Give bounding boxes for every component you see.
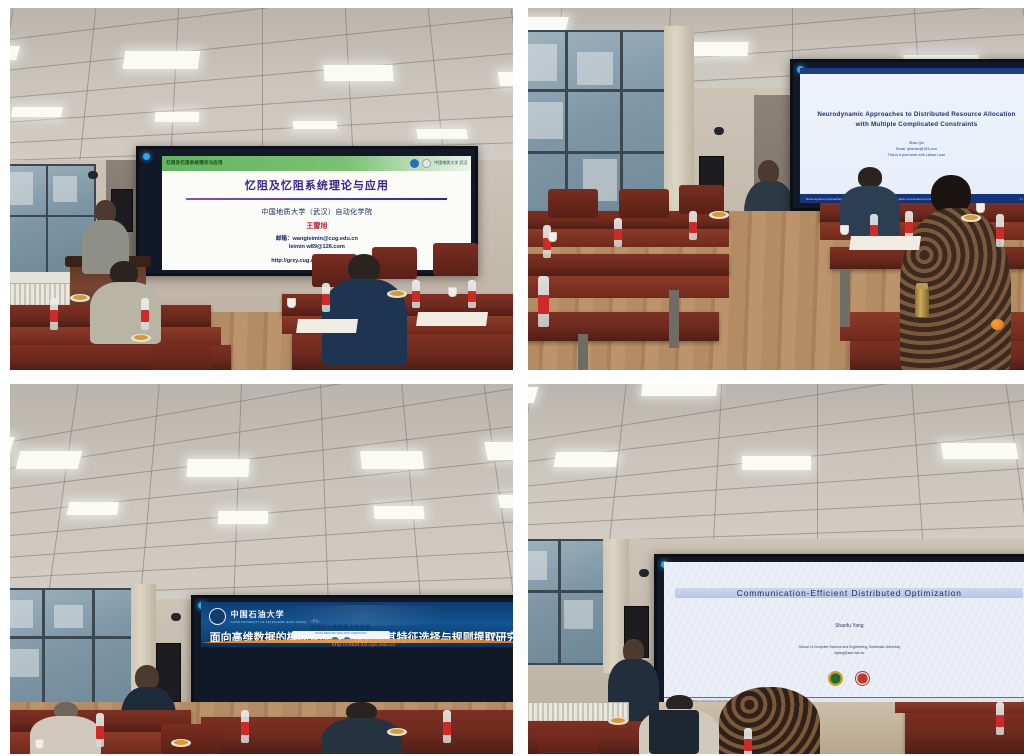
- desk: [528, 254, 729, 276]
- camera-icon: [88, 171, 98, 179]
- slide-email-2: leimin w89@126.com: [172, 243, 461, 251]
- coat-on-chair: [649, 710, 699, 754]
- chair: [538, 732, 598, 754]
- paper-cup: [840, 225, 849, 235]
- email-label: 邮箱：: [276, 236, 293, 242]
- paper-cup: [976, 203, 985, 213]
- slide-email-1: 邮箱：wangleimin@cug.edu.cn: [172, 235, 461, 243]
- desk-leg: [578, 334, 588, 370]
- desk-leg: [669, 290, 679, 348]
- paper-cup: [287, 298, 296, 308]
- projection-screen: 忆阻及忆阻系统理论与应用 中国地质大学 武汉 忆阻及忆阻系统理论与应用 中国地质…: [136, 146, 478, 276]
- room-scene: 中国石油大学 CHINA UNIVERSITY OF PETROLEUM (EA…: [10, 384, 513, 754]
- projection-screen: Communication-Efficient Distributed Opti…: [654, 554, 1024, 709]
- slide-email: sfyang@seu.edu.cn: [664, 650, 1024, 656]
- logo-blue-icon: [410, 159, 419, 168]
- water-bottle: [50, 298, 58, 331]
- chair: [433, 243, 478, 276]
- lab-subtitle: CROSS-MEDIA BIG DATA JOINT LABORATORY: [315, 632, 367, 635]
- ceiling-light: [218, 511, 268, 524]
- gold-thermos: [915, 287, 929, 317]
- emblem-green-icon: [828, 671, 843, 686]
- ceiling-grid: [10, 8, 513, 167]
- paper-cup: [35, 739, 44, 749]
- water-bottle: [689, 211, 697, 240]
- university-seal-icon: [209, 608, 226, 625]
- ceiling-light: [484, 442, 513, 460]
- ceiling-light: [11, 107, 63, 117]
- ceiling-light: [186, 459, 250, 477]
- slide-footer-right: 1 / 32: [1020, 197, 1024, 201]
- photo-bottom-left[interactable]: 中国石油大学 CHINA UNIVERSITY OF PETROLEUM (EA…: [10, 384, 513, 754]
- camera-icon: [639, 569, 649, 577]
- paper-cup: [448, 287, 457, 297]
- ceiling-light: [155, 112, 199, 122]
- reporter-label: 汇报人：王 鹏: [464, 632, 510, 638]
- attendee-body: [90, 282, 160, 344]
- ceiling-light: [742, 456, 811, 471]
- slide-title-bar: Communication-Efficient Distributed Opti…: [675, 588, 1023, 598]
- email-value-1: wangleimin@cug.edu.cn: [293, 236, 358, 242]
- ceiling-light: [292, 121, 336, 129]
- water-bottle: [443, 710, 451, 743]
- slide-url: http://cdbdl.szl.upc.edu.cn: [332, 642, 395, 646]
- water-bottle: [996, 702, 1004, 735]
- ceiling-grid: [10, 384, 513, 606]
- attendee-patterned-coat: [900, 175, 1011, 370]
- attendee-body: [719, 687, 820, 754]
- slide-header-text: 忆阻及忆阻系统理论与应用: [166, 160, 222, 166]
- water-bottle: [322, 283, 330, 312]
- room-scene: Neurodynamic Approaches to Distributed R…: [528, 8, 1024, 370]
- slide-title: Communication-Efficient Distributed Opti…: [737, 588, 962, 598]
- slide-presenter: Shaofu Yang: [664, 623, 1024, 629]
- water-bottle: [538, 276, 549, 327]
- ceiling-light: [67, 502, 119, 515]
- lab-card: 跨媒体大数据联合实验室 CROSS-MEDIA BIG DATA JOINT L…: [292, 631, 390, 639]
- ceiling: [10, 8, 513, 167]
- desk-top: [528, 276, 729, 298]
- screen-power-indicator: [143, 153, 150, 160]
- water-bottle: [614, 218, 622, 247]
- room-scene: 忆阻及忆阻系统理论与应用 中国地质大学 武汉 忆阻及忆阻系统理论与应用 中国地质…: [10, 8, 513, 370]
- window: [528, 539, 608, 665]
- ceiling-light: [323, 65, 393, 81]
- slide-organization: 中国地质大学（武汉）自动化学院: [172, 207, 461, 217]
- ceiling-light: [554, 452, 619, 467]
- photo-bottom-right[interactable]: Communication-Efficient Distributed Opti…: [528, 384, 1024, 754]
- handout-paper: [849, 236, 921, 250]
- ceiling-light: [497, 495, 513, 508]
- slide-top-bar: [800, 68, 1024, 75]
- water-bottle: [744, 728, 752, 754]
- slide-affiliation-block: School of Computer Science and Engineeri…: [664, 644, 1024, 656]
- water-bottle: [468, 280, 476, 309]
- desk: [528, 312, 719, 341]
- water-bottle: [141, 298, 149, 331]
- ceiling-light: [16, 451, 83, 469]
- photo-top-right[interactable]: Neurodynamic Approaches to Distributed R…: [528, 8, 1024, 370]
- handout-paper: [416, 312, 488, 326]
- photo-top-left[interactable]: 忆阻及忆阻系统理论与应用 中国地质大学 武汉 忆阻及忆阻系统理论与应用 中国地质…: [10, 8, 513, 370]
- ceiling-light: [497, 72, 513, 86]
- ceiling-light: [373, 506, 424, 519]
- attendee: [322, 254, 408, 363]
- ceiling-light: [940, 443, 1018, 459]
- desk-top: [528, 229, 729, 247]
- slide-subtitle-block: Shan Qin Email: qinshan@163.com This is …: [888, 140, 946, 159]
- attendee-patterned-coat: [719, 687, 820, 754]
- slide-title: 忆阻及忆阻系统理论与应用: [172, 177, 461, 193]
- attendee-head: [858, 167, 882, 188]
- slide-communication-efficient: Communication-Efficient Distributed Opti…: [664, 562, 1024, 705]
- slide-url-bar: http://cdbdl.szl.upc.edu.cn: [201, 643, 513, 646]
- slide-emblems: [664, 671, 1024, 686]
- slide-header-bar: 忆阻及忆阻系统理论与应用 中国地质大学 武汉: [162, 156, 471, 171]
- chair: [548, 189, 598, 218]
- attendee-body: [322, 718, 402, 754]
- room-scene: Communication-Efficient Distributed Opti…: [528, 384, 1024, 754]
- chair: [619, 189, 669, 218]
- chair: [151, 341, 211, 370]
- ceiling-light: [360, 451, 424, 469]
- chair: [161, 724, 221, 754]
- water-bottle: [241, 710, 249, 743]
- slide-watermark: [246, 605, 481, 626]
- emblem-red-icon: [855, 671, 870, 686]
- fruit-plate: [709, 211, 729, 219]
- attendee: [90, 261, 160, 341]
- chair: [679, 185, 724, 214]
- desk: [905, 710, 1024, 754]
- fruit-plate: [131, 334, 151, 342]
- slide-presenter: 王雷旭: [172, 221, 461, 231]
- water-bottle: [96, 713, 104, 746]
- slide-header-logo-text: 中国地质大学 武汉: [434, 160, 467, 166]
- lab-name: 跨媒体大数据联合实验室: [310, 624, 371, 631]
- photo-collage: 忆阻及忆阻系统理论与应用 中国地质大学 武汉 忆阻及忆阻系统理论与应用 中国地质…: [0, 0, 1024, 756]
- presenter-head: [135, 665, 159, 690]
- water-bottle: [412, 280, 420, 309]
- slide-divider: [186, 198, 447, 200]
- slide-note: This is a joint work with Lizhan Luan: [888, 152, 946, 158]
- ceiling-light: [642, 384, 718, 395]
- slide-header-logos: 中国地质大学 武汉: [410, 159, 467, 168]
- desk-leg: [840, 269, 850, 327]
- ceiling: [10, 384, 513, 606]
- logo-gray-icon: [422, 159, 431, 168]
- ceiling: [528, 384, 1024, 547]
- water-bottle: [996, 214, 1004, 247]
- ceiling-light: [417, 129, 469, 139]
- ceiling-light: [123, 51, 200, 69]
- slide-title: Neurodynamic Approaches to Distributed R…: [812, 110, 1021, 131]
- desk-top: [895, 702, 1024, 713]
- slide-fuzzy-system: 中国石油大学 CHINA UNIVERSITY OF PETROLEUM (EA…: [201, 602, 513, 647]
- handout-paper: [296, 319, 358, 333]
